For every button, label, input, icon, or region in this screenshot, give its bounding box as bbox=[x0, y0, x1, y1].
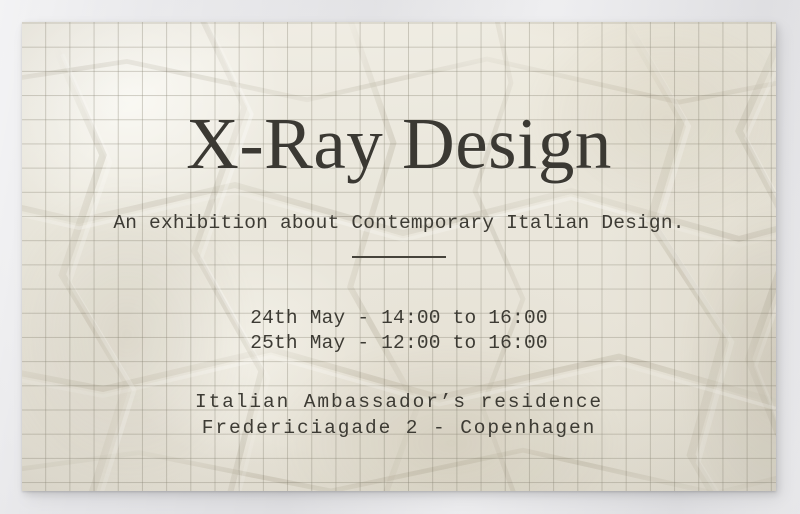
schedule-line: 24th May - 14:00 to 16:00 bbox=[22, 306, 776, 331]
poster-scene: X-Ray Design An exhibition about Contemp… bbox=[0, 0, 800, 514]
venue-line: Fredericiagade 2 - Copenhagen bbox=[22, 415, 776, 441]
page-title: X-Ray Design bbox=[22, 107, 776, 180]
poster-content: X-Ray Design An exhibition about Contemp… bbox=[22, 22, 776, 491]
poster-subtitle: An exhibition about Contemporary Italian… bbox=[22, 214, 776, 234]
schedule-line: 25th May - 12:00 to 16:00 bbox=[22, 331, 776, 356]
venue-line: Italian Ambassador’s residence bbox=[22, 389, 776, 415]
graph-paper-sheet: X-Ray Design An exhibition about Contemp… bbox=[22, 22, 776, 491]
divider-rule bbox=[352, 256, 446, 258]
schedule-block: 24th May - 14:00 to 16:00 25th May - 12:… bbox=[22, 306, 776, 356]
venue-block: Italian Ambassador’s residence Frederici… bbox=[22, 389, 776, 441]
